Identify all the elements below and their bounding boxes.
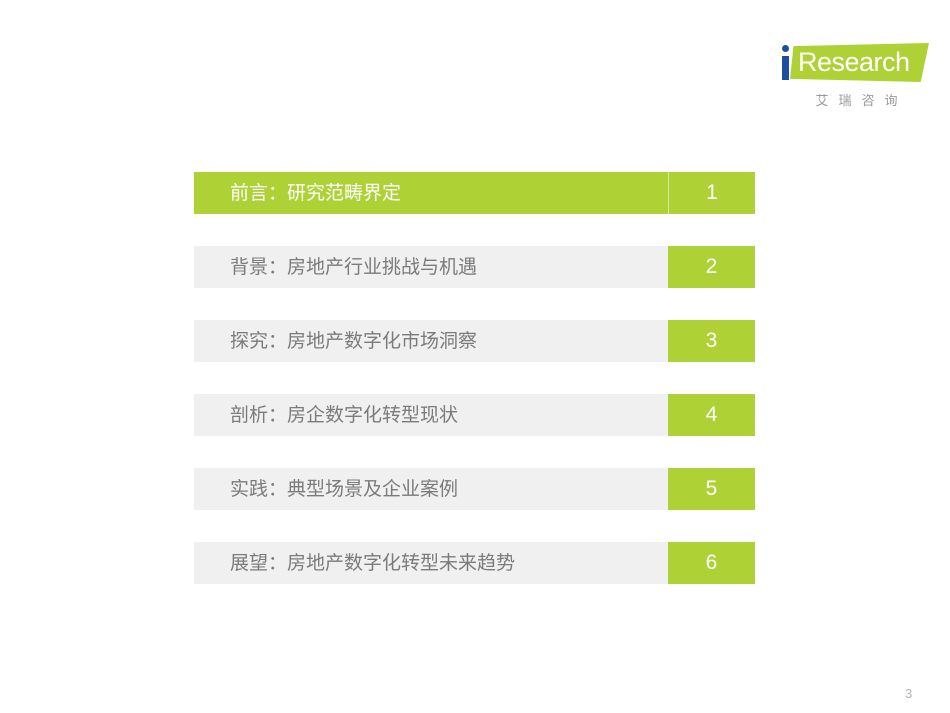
logo-wordmark: Research: [798, 46, 924, 78]
toc-item-label: 展望：房地产数字化转型未来趋势: [230, 542, 515, 584]
toc-item-number: 5: [668, 468, 755, 510]
toc-item-6[interactable]: 展望：房地产数字化转型未来趋势 6: [194, 542, 755, 584]
toc-item-number: 6: [668, 542, 755, 584]
toc-item-label: 剖析：房企数字化转型现状: [230, 394, 458, 436]
toc-item-label: 探究：房地产数字化市场洞察: [230, 320, 477, 362]
toc-item-number: 1: [668, 172, 755, 214]
logo-mark: Research: [770, 38, 935, 85]
toc-item-number: 4: [668, 394, 755, 436]
toc-item-2[interactable]: 背景：房地产行业挑战与机遇 2: [194, 246, 755, 288]
toc-item-label: 前言：研究范畴界定: [230, 172, 401, 214]
iresearch-logo: Research 艾瑞咨询: [770, 38, 935, 116]
logo-chinese-name: 艾瑞咨询: [778, 90, 935, 109]
toc-item-5[interactable]: 实践：典型场景及企业案例 5: [194, 468, 755, 510]
table-of-contents: 前言：研究范畴界定 1 背景：房地产行业挑战与机遇 2 探究：房地产数字化市场洞…: [194, 172, 755, 584]
toc-item-number: 3: [668, 320, 755, 362]
toc-item-label: 实践：典型场景及企业案例: [230, 468, 458, 510]
slide-root: Research 艾瑞咨询 前言：研究范畴界定 1 背景：房地产行业挑战与机遇 …: [0, 0, 950, 713]
toc-item-3[interactable]: 探究：房地产数字化市场洞察 3: [194, 320, 755, 362]
page-number: 3: [905, 686, 929, 701]
toc-item-number: 2: [668, 246, 755, 288]
toc-item-label: 背景：房地产行业挑战与机遇: [230, 246, 477, 288]
logo-i-stem-icon: [782, 56, 789, 80]
logo-i-dot-icon: [782, 45, 789, 52]
toc-item-1[interactable]: 前言：研究范畴界定 1: [194, 172, 755, 214]
toc-item-4[interactable]: 剖析：房企数字化转型现状 4: [194, 394, 755, 436]
